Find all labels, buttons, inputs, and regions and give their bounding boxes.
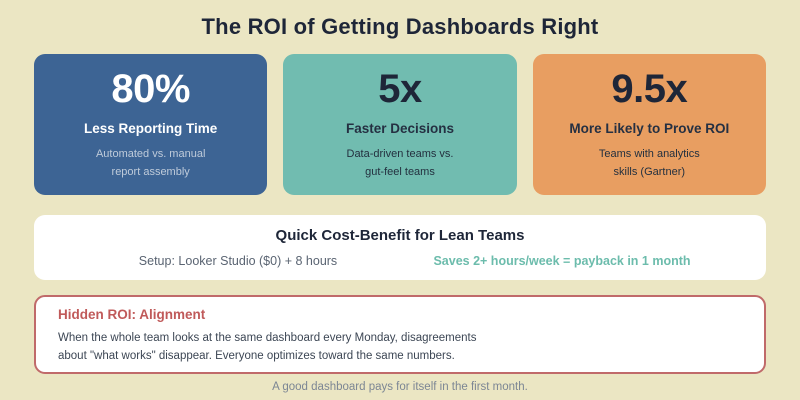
stat-card-subtext-line2: skills (Gartner): [599, 163, 700, 181]
footer-note: A good dashboard pays for itself in the …: [0, 381, 800, 393]
page-title: The ROI of Getting Dashboards Right: [0, 14, 800, 40]
stat-card-subtext-line2: gut-feel teams: [347, 163, 454, 181]
cost-benefit-row: Setup: Looker Studio ($0) + 8 hours Save…: [34, 254, 766, 268]
hidden-roi-callout: Hidden ROI: Alignment When the whole tea…: [34, 295, 766, 374]
stat-card-prove-roi: 9.5x More Likely to Prove ROI Teams with…: [533, 54, 766, 195]
stat-card-label: Less Reporting Time: [84, 121, 217, 136]
stat-cards-row: 80% Less Reporting Time Automated vs. ma…: [34, 54, 766, 195]
stat-card-subtext: Automated vs. manual report assembly: [96, 145, 205, 181]
cost-benefit-panel: Quick Cost-Benefit for Lean Teams Setup:…: [34, 215, 766, 280]
stat-card-faster-decisions: 5x Faster Decisions Data-driven teams vs…: [283, 54, 516, 195]
stat-card-value: 80%: [111, 68, 190, 110]
stat-card-subtext-line2: report assembly: [96, 163, 205, 181]
stat-card-label: Faster Decisions: [346, 121, 454, 136]
stat-card-subtext: Data-driven teams vs. gut-feel teams: [347, 145, 454, 181]
cost-benefit-title: Quick Cost-Benefit for Lean Teams: [34, 227, 766, 244]
stat-card-less-reporting-time: 80% Less Reporting Time Automated vs. ma…: [34, 54, 267, 195]
stat-card-value: 9.5x: [611, 68, 687, 110]
stat-card-subtext-line1: Automated vs. manual: [96, 145, 205, 163]
hidden-roi-body-line2: about "what works" disappear. Everyone o…: [58, 348, 742, 366]
stat-card-subtext-line1: Data-driven teams vs.: [347, 145, 454, 163]
stat-card-subtext: Teams with analytics skills (Gartner): [599, 145, 700, 181]
cost-benefit-savings-text: Saves 2+ hours/week = payback in 1 month: [400, 254, 724, 268]
stat-card-value: 5x: [378, 68, 422, 110]
hidden-roi-title: Hidden ROI: Alignment: [58, 307, 742, 322]
stat-card-subtext-line1: Teams with analytics: [599, 145, 700, 163]
cost-benefit-setup-text: Setup: Looker Studio ($0) + 8 hours: [76, 254, 400, 268]
stat-card-label: More Likely to Prove ROI: [569, 121, 729, 136]
infographic-root: The ROI of Getting Dashboards Right 80% …: [0, 0, 800, 400]
hidden-roi-body: When the whole team looks at the same da…: [58, 330, 742, 366]
hidden-roi-body-line1: When the whole team looks at the same da…: [58, 330, 742, 348]
